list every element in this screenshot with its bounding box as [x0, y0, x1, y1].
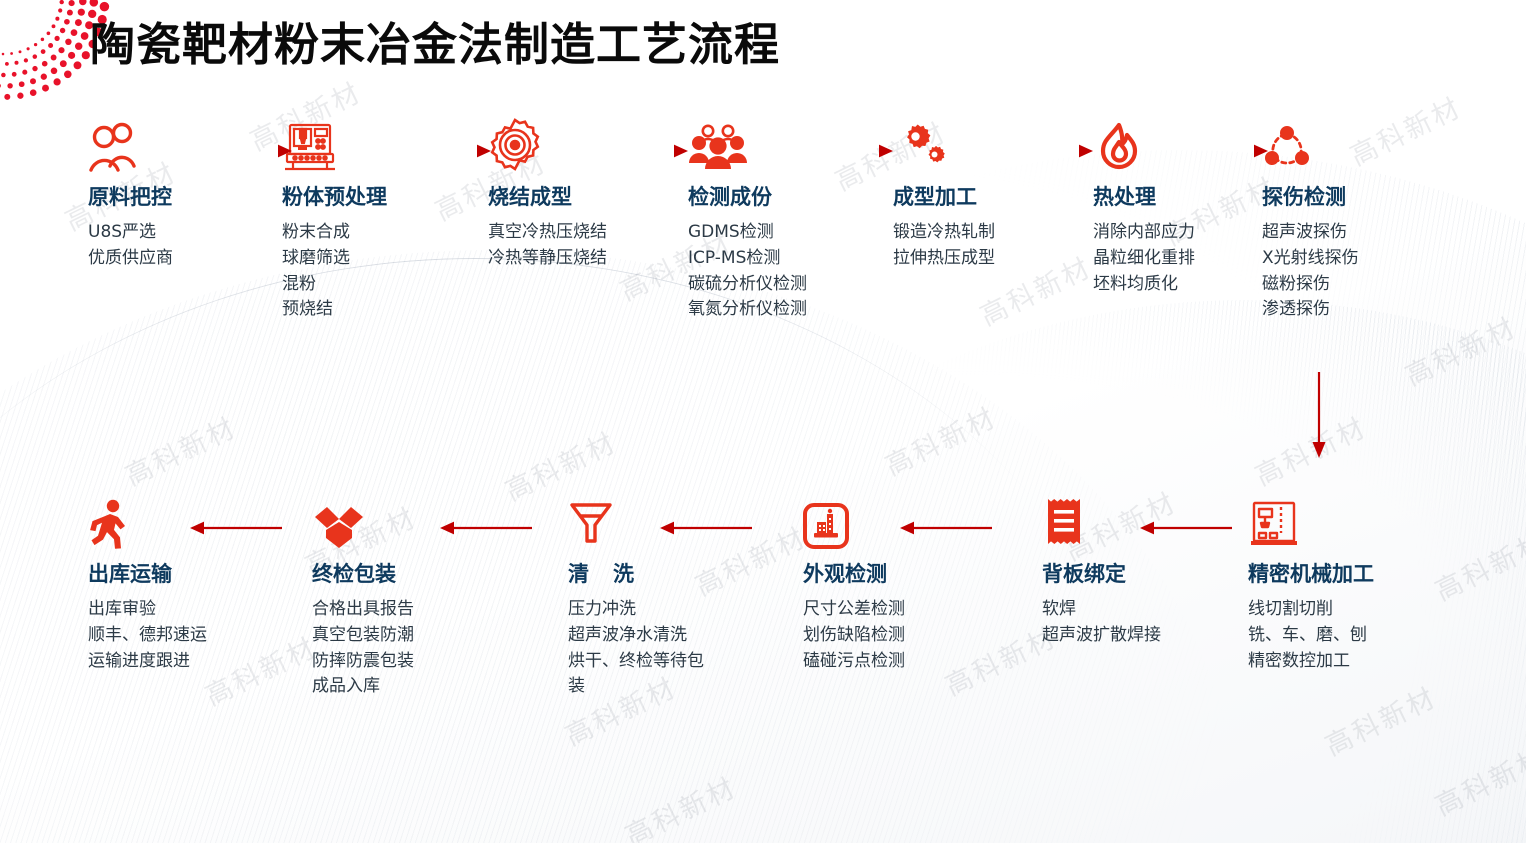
step-detail-line: 粉末合成 [282, 220, 387, 246]
process-step[interactable]: 外观检测尺寸公差检测划伤缺陷检测磕碰污点检测 [803, 495, 905, 674]
step-detail-list: 尺寸公差检测划伤缺陷检测磕碰污点检测 [803, 597, 905, 674]
step-detail-list: U8S严选优质供应商 [88, 220, 173, 272]
step-detail-line: U8S严选 [88, 220, 173, 246]
watermark-text: 高科新材 [118, 406, 243, 494]
step-detail-line: 磕碰污点检测 [803, 649, 905, 675]
step-detail-list: 粉末合成球磨筛选混粉预烧结 [282, 220, 387, 323]
flow-arrow-left-icon [190, 521, 282, 535]
step-detail-line: 超声波净水清洗 [568, 623, 720, 649]
step-detail-line: 防摔防震包装 [312, 649, 414, 675]
flow-arrow-right-icon [600, 144, 688, 158]
step-title: 检测成份 [688, 181, 807, 211]
step-detail-line: 真空冷热压烧结 [488, 220, 607, 246]
flow-arrow-right-icon [200, 144, 292, 158]
flame-icon [1093, 118, 1195, 172]
step-detail-line: 铣、车、磨、刨 [1248, 623, 1374, 649]
step-detail-line: 成品入库 [312, 674, 414, 700]
step-detail-line: 顺丰、德邦速运 [88, 623, 207, 649]
cnc-machine-icon [1248, 495, 1374, 549]
step-title: 出库运输 [88, 558, 207, 588]
process-step[interactable]: 精密机械加工线切割切削铣、车、磨、刨精密数控加工 [1248, 495, 1374, 674]
step-detail-line: 坯料均质化 [1093, 272, 1195, 298]
step-detail-line: 冷热等静压烧结 [488, 246, 607, 272]
step-title: 探伤检测 [1262, 181, 1359, 211]
step-detail-line: 超声波探伤 [1262, 220, 1359, 246]
step-detail-line: 氧氮分析仪检测 [688, 297, 807, 323]
process-step[interactable]: 终检包装合格出具报告真空包装防潮防摔防震包装成品入库 [312, 495, 414, 700]
gear-target-icon [488, 118, 607, 172]
step-title: 粉体预处理 [282, 181, 387, 211]
watermark-text: 高科新材 [1248, 406, 1373, 494]
step-detail-line: 预烧结 [282, 297, 387, 323]
flow-arrow-left [440, 521, 532, 535]
flow-arrow-right-icon [405, 144, 491, 158]
step-detail-line: 渗透探伤 [1262, 297, 1359, 323]
flow-arrow-right [1005, 144, 1093, 158]
step-title: 热处理 [1093, 181, 1195, 211]
step-detail-list: 出库审验顺丰、德邦速运运输进度跟进 [88, 597, 207, 674]
process-step[interactable]: 成型加工锻造冷热轧制拉伸热压成型 [893, 118, 995, 272]
step-detail-line: 合格出具报告 [312, 597, 414, 623]
two-gears-icon [893, 118, 995, 172]
people-group-icon [688, 118, 807, 172]
step-title: 清洗 [568, 558, 720, 588]
step-detail-line: 软焊 [1042, 597, 1161, 623]
step-title: 烧结成型 [488, 181, 607, 211]
step-title: 精密机械加工 [1248, 558, 1374, 588]
step-detail-line: 运输进度跟进 [88, 649, 207, 675]
step-title: 成型加工 [893, 181, 995, 211]
step-detail-line: 烘干、终检等待包装 [568, 649, 720, 701]
flow-arrow-right [805, 144, 893, 158]
step-detail-list: 软焊超声波扩散焊接 [1042, 597, 1161, 649]
step-title: 背板绑定 [1042, 558, 1161, 588]
flow-arrow-left [190, 521, 282, 535]
step-detail-list: 超声波探伤X光射线探伤磁粉探伤渗透探伤 [1262, 220, 1359, 323]
step-title: 外观检测 [803, 558, 905, 588]
flow-arrow-left-icon [440, 521, 532, 535]
connector-down-arrow-icon [1311, 372, 1327, 462]
flow-arrow-left-icon [1140, 521, 1232, 535]
process-step[interactable]: 检测成份GDMS检测ICP-MS检测碳硫分析仪检测氧氮分析仪检测 [688, 118, 807, 323]
page-header: 陶瓷靶材粉末冶金法制造工艺流程 [0, 0, 1526, 92]
machine-icon [282, 118, 387, 172]
step-detail-line: GDMS检测 [688, 220, 807, 246]
three-dots-triangle-icon [1262, 118, 1359, 172]
step-detail-line: 优质供应商 [88, 246, 173, 272]
step-detail-line: 碳硫分析仪检测 [688, 272, 807, 298]
flow-arrow-right-icon [1190, 144, 1268, 158]
flow-arrow-left [660, 521, 752, 535]
flow-arrow-right [200, 144, 292, 158]
step-detail-line: 消除内部应力 [1093, 220, 1195, 246]
step-detail-list: 真空冷热压烧结冷热等静压烧结 [488, 220, 607, 272]
process-step[interactable]: 背板绑定软焊超声波扩散焊接 [1042, 495, 1161, 649]
process-row-1: 原料把控U8S严选优质供应商 粉体预处理粉末合成球 [0, 118, 1526, 348]
watermark-text: 高科新材 [878, 396, 1003, 484]
step-detail-line: 晶粒细化重排 [1093, 246, 1195, 272]
process-step[interactable]: 烧结成型真空冷热压烧结冷热等静压烧结 [488, 118, 607, 272]
step-detail-line: 真空包装防潮 [312, 623, 414, 649]
watermark-text: 高科新材 [618, 766, 743, 843]
step-detail-line: 出库审验 [88, 597, 207, 623]
flow-arrow-right-icon [805, 144, 893, 158]
process-step[interactable]: 原料把控U8S严选优质供应商 [88, 118, 173, 272]
process-step[interactable]: 探伤检测超声波探伤X光射线探伤磁粉探伤渗透探伤 [1262, 118, 1359, 323]
step-detail-line: 磁粉探伤 [1262, 272, 1359, 298]
step-detail-list: GDMS检测ICP-MS检测碳硫分析仪检测氧氮分析仪检测 [688, 220, 807, 323]
step-title: 原料把控 [88, 181, 173, 211]
step-detail-line: 拉伸热压成型 [893, 246, 995, 272]
open-box-icon [312, 495, 414, 549]
flow-arrow-right-icon [1005, 144, 1093, 158]
step-detail-line: 划伤缺陷检测 [803, 623, 905, 649]
step-detail-line: 尺寸公差检测 [803, 597, 905, 623]
step-detail-list: 锻造冷热轧制拉伸热压成型 [893, 220, 995, 272]
step-detail-line: X光射线探伤 [1262, 246, 1359, 272]
step-detail-line: 球磨筛选 [282, 246, 387, 272]
step-detail-line: 超声波扩散焊接 [1042, 623, 1161, 649]
flow-arrow-left-icon [900, 521, 992, 535]
watermark-text: 高科新材 [1428, 736, 1526, 824]
step-detail-list: 线切割切削铣、车、磨、刨精密数控加工 [1248, 597, 1374, 674]
step-detail-line: 混粉 [282, 272, 387, 298]
step-detail-line: ICP-MS检测 [688, 246, 807, 272]
step-detail-line: 锻造冷热轧制 [893, 220, 995, 246]
step-detail-line: 线切割切削 [1248, 597, 1374, 623]
flow-arrow-left [1140, 521, 1232, 535]
step-detail-list: 合格出具报告真空包装防潮防摔防震包装成品入库 [312, 597, 414, 700]
step-title: 终检包装 [312, 558, 414, 588]
page-title: 陶瓷靶材粉末冶金法制造工艺流程 [90, 8, 780, 73]
flow-arrow-right [405, 144, 491, 158]
process-step[interactable]: 热处理消除内部应力晶粒细化重排坯料均质化 [1093, 118, 1195, 297]
step-detail-line: 压力冲洗 [568, 597, 720, 623]
flow-arrow-right [1190, 144, 1268, 158]
step-detail-list: 消除内部应力晶粒细化重排坯料均质化 [1093, 220, 1195, 297]
step-detail-line: 精密数控加工 [1248, 649, 1374, 675]
flow-arrow-right [600, 144, 688, 158]
flow-arrow-left-icon [660, 521, 752, 535]
two-people-icon [88, 118, 173, 172]
process-row-2: 精密机械加工线切割切削铣、车、磨、刨精密数控加工 背板绑定软焊超声波扩散焊接 [0, 495, 1526, 725]
flow-arrow-left [900, 521, 992, 535]
process-step[interactable]: 粉体预处理粉末合成球磨筛选混粉预烧结 [282, 118, 387, 323]
inspection-square-icon [803, 495, 905, 549]
step-detail-list: 压力冲洗超声波净水清洗烘干、终检等待包装 [568, 597, 720, 700]
